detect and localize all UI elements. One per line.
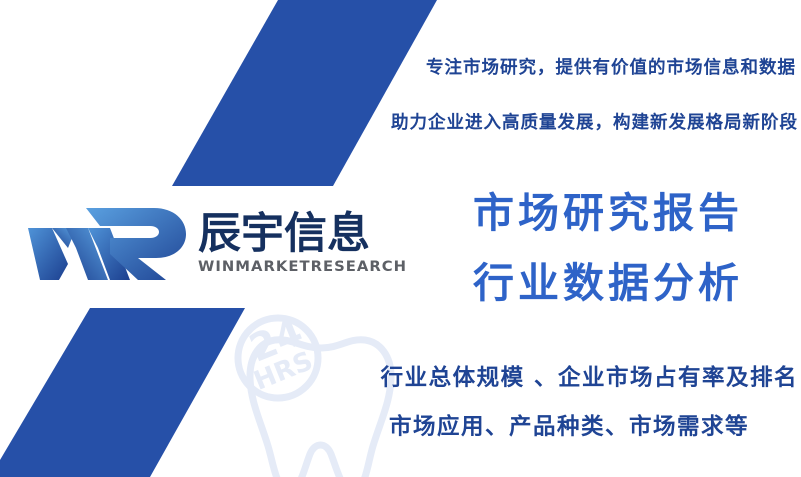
poster-canvas: 24 HRS: [0, 0, 801, 477]
tagline-line-2: 助力企业进入高质量发展，构建新发展格局新阶段: [391, 109, 798, 134]
subline-line-1: 行业总体规模 、企业市场占有率及排名: [381, 360, 798, 392]
lower-parallelogram: [0, 308, 245, 477]
watermark-badge-top: 24: [243, 310, 309, 371]
upper-parallelogram: [172, 0, 437, 186]
wmr-logo-mark: [26, 204, 188, 280]
logo-company-cn: 辰宇信息: [198, 213, 403, 257]
company-logo: 辰宇信息 WINMARKETRESEARCH: [26, 196, 381, 288]
subline-line-2: 市场应用、产品种类、市场需求等: [389, 409, 749, 441]
tagline-line-1: 专注市场研究，提供有价值的市场信息和数据: [426, 54, 796, 79]
logo-wordmark: 辰宇信息 WINMARKETRESEARCH: [198, 209, 403, 276]
watermark-badge-bottom: HRS: [250, 346, 317, 396]
logo-company-en: WINMARKETRESEARCH: [198, 259, 407, 275]
headline-line-2: 行业数据分析: [473, 249, 743, 309]
headline-line-1: 市场研究报告: [473, 179, 743, 239]
